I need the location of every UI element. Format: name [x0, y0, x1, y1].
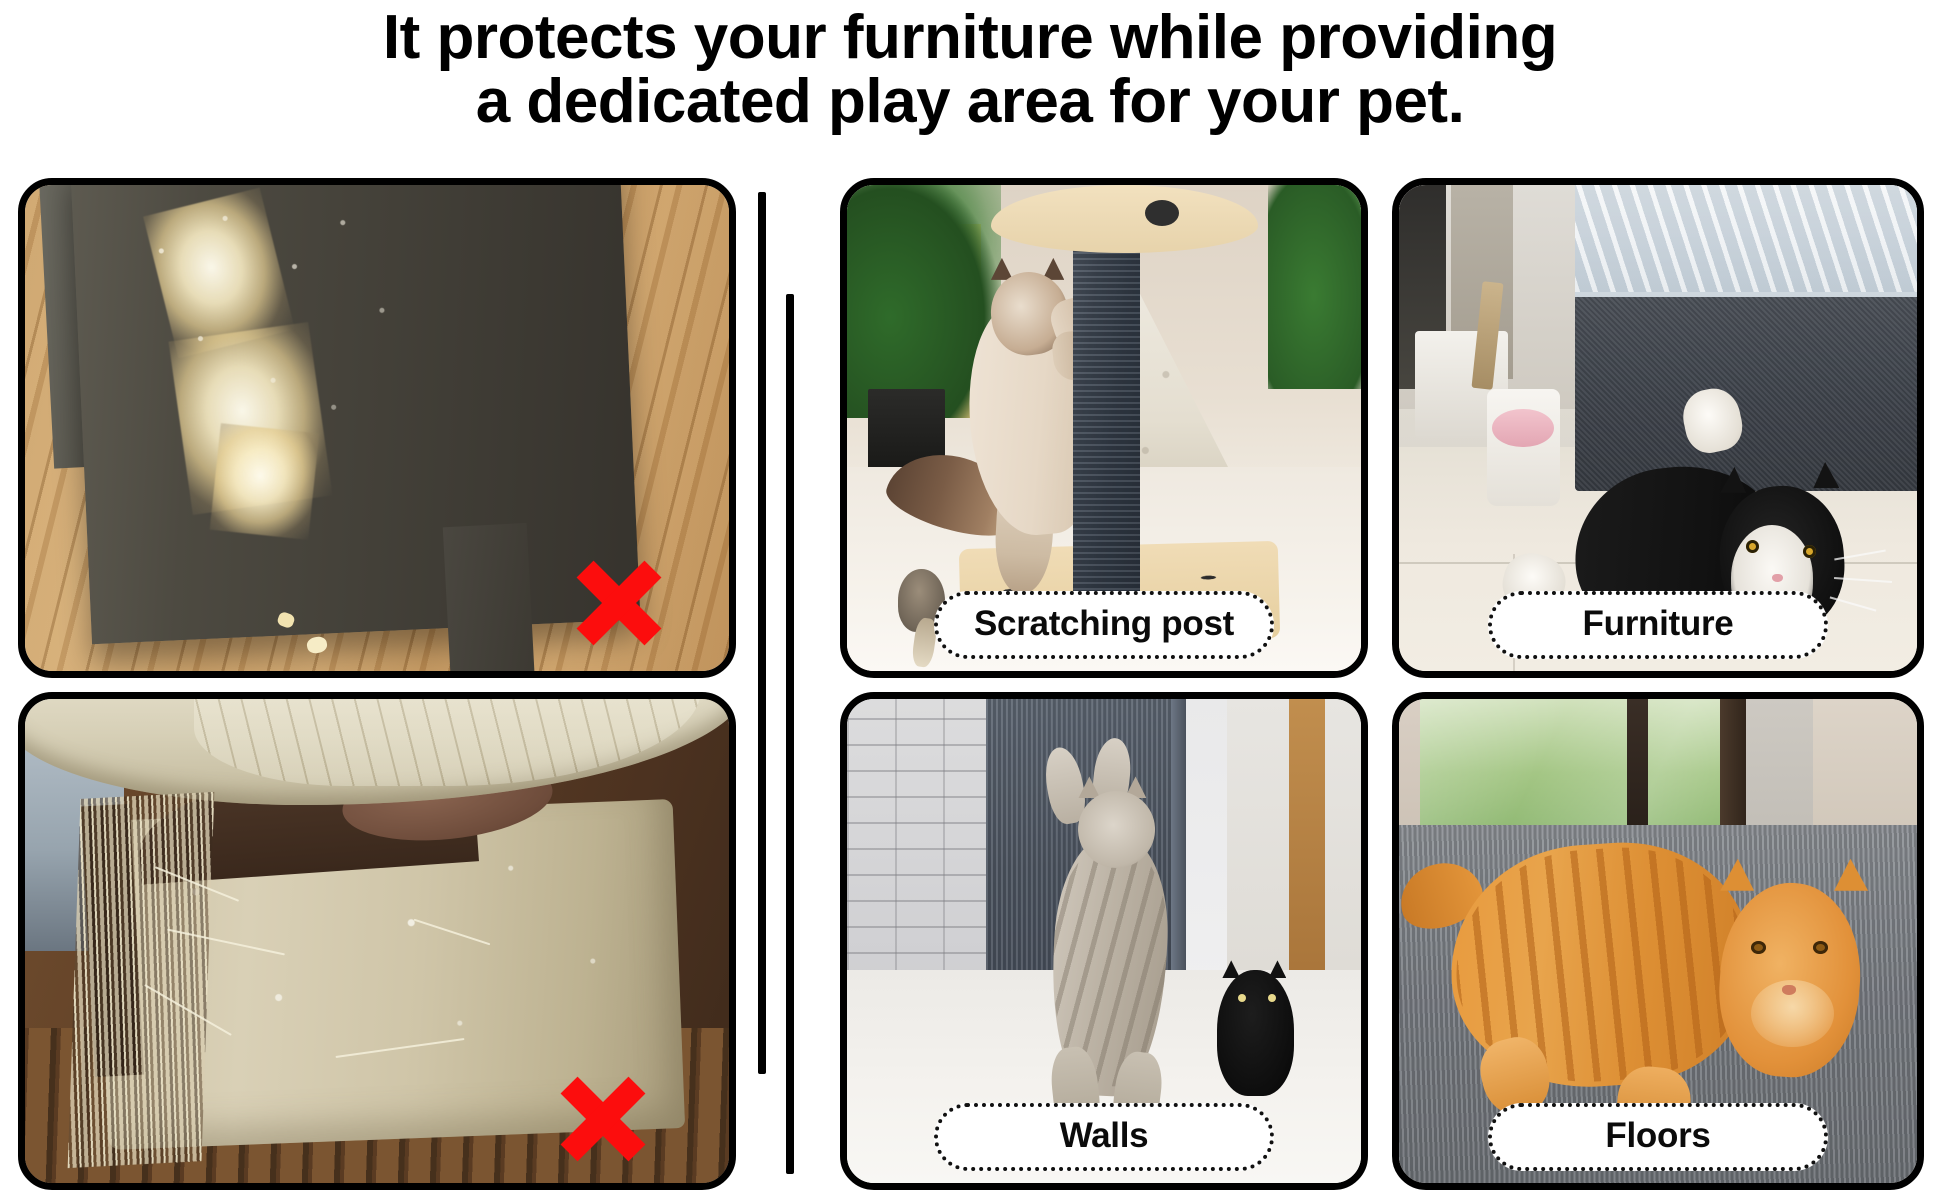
section-divider-lower	[786, 294, 794, 1174]
caption-badge-floors: Floors	[1488, 1103, 1828, 1171]
infographic-page: It protects your furniture while providi…	[0, 0, 1940, 1200]
page-title: It protects your furniture while providi…	[0, 6, 1940, 135]
panel-walls: Walls	[840, 692, 1368, 1190]
caption-badge-furniture: Furniture	[1488, 591, 1828, 659]
caption-badge-scratching-post: Scratching post	[934, 591, 1274, 659]
section-divider-upper	[758, 192, 766, 1074]
panel-damaged-sofa	[18, 692, 736, 1190]
panel-furniture: Furniture	[1392, 178, 1924, 678]
caption-badge-walls: Walls	[934, 1103, 1274, 1171]
cross-mark-icon	[577, 561, 661, 645]
panel-scratching-post: Scratching post	[840, 178, 1368, 678]
cross-mark-icon	[561, 1077, 645, 1161]
panel-damaged-cabinet	[18, 178, 736, 678]
panel-floors: Floors	[1392, 692, 1924, 1190]
